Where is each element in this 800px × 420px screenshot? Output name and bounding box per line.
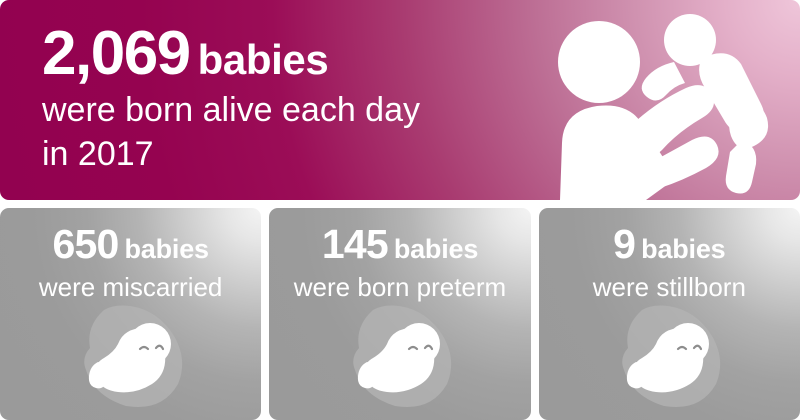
stat-card-headline: 145babies [269, 224, 530, 265]
adult-lifting-baby-icon [542, 0, 792, 200]
stat-card-row: 650babies were miscarried [0, 208, 800, 420]
fetus-icon [608, 300, 730, 412]
stat-card-preterm: 145babies were born preterm [269, 208, 530, 420]
fetus-icon [339, 300, 461, 412]
hero-subtitle-line-2: in 2017 [42, 135, 420, 173]
hero-unit: babies [198, 36, 329, 83]
stat-card-stillborn: 9babies were stillborn [539, 208, 800, 420]
stat-card-number: 145 [322, 221, 388, 267]
stat-card-headline: 9babies [539, 224, 800, 265]
hero-panel: 2,069babies were born alive each day in … [0, 0, 800, 200]
stat-card-number: 9 [613, 221, 635, 267]
stat-card-number: 650 [52, 221, 118, 267]
stat-card-unit: babies [394, 234, 478, 264]
hero-subtitle-line-1: were born alive each day [42, 91, 420, 129]
hero-number: 2,069 [42, 19, 190, 88]
stat-card-subtitle: were miscarried [0, 274, 261, 300]
infographic-root: 2,069babies were born alive each day in … [0, 0, 800, 420]
stat-card-text-block: 9babies were stillborn [539, 224, 800, 300]
stat-card-unit: babies [125, 234, 209, 264]
hero-text-block: 2,069babies were born alive each day in … [42, 23, 420, 174]
stat-card-subtitle: were born preterm [269, 274, 530, 300]
stat-card-miscarried: 650babies were miscarried [0, 208, 261, 420]
stat-card-text-block: 145babies were born preterm [269, 224, 530, 300]
fetus-icon [70, 300, 192, 412]
stat-card-text-block: 650babies were miscarried [0, 224, 261, 300]
hero-headline: 2,069babies [42, 23, 420, 85]
stat-card-unit: babies [641, 234, 725, 264]
stat-card-subtitle: were stillborn [539, 274, 800, 300]
stat-card-headline: 650babies [0, 224, 261, 265]
